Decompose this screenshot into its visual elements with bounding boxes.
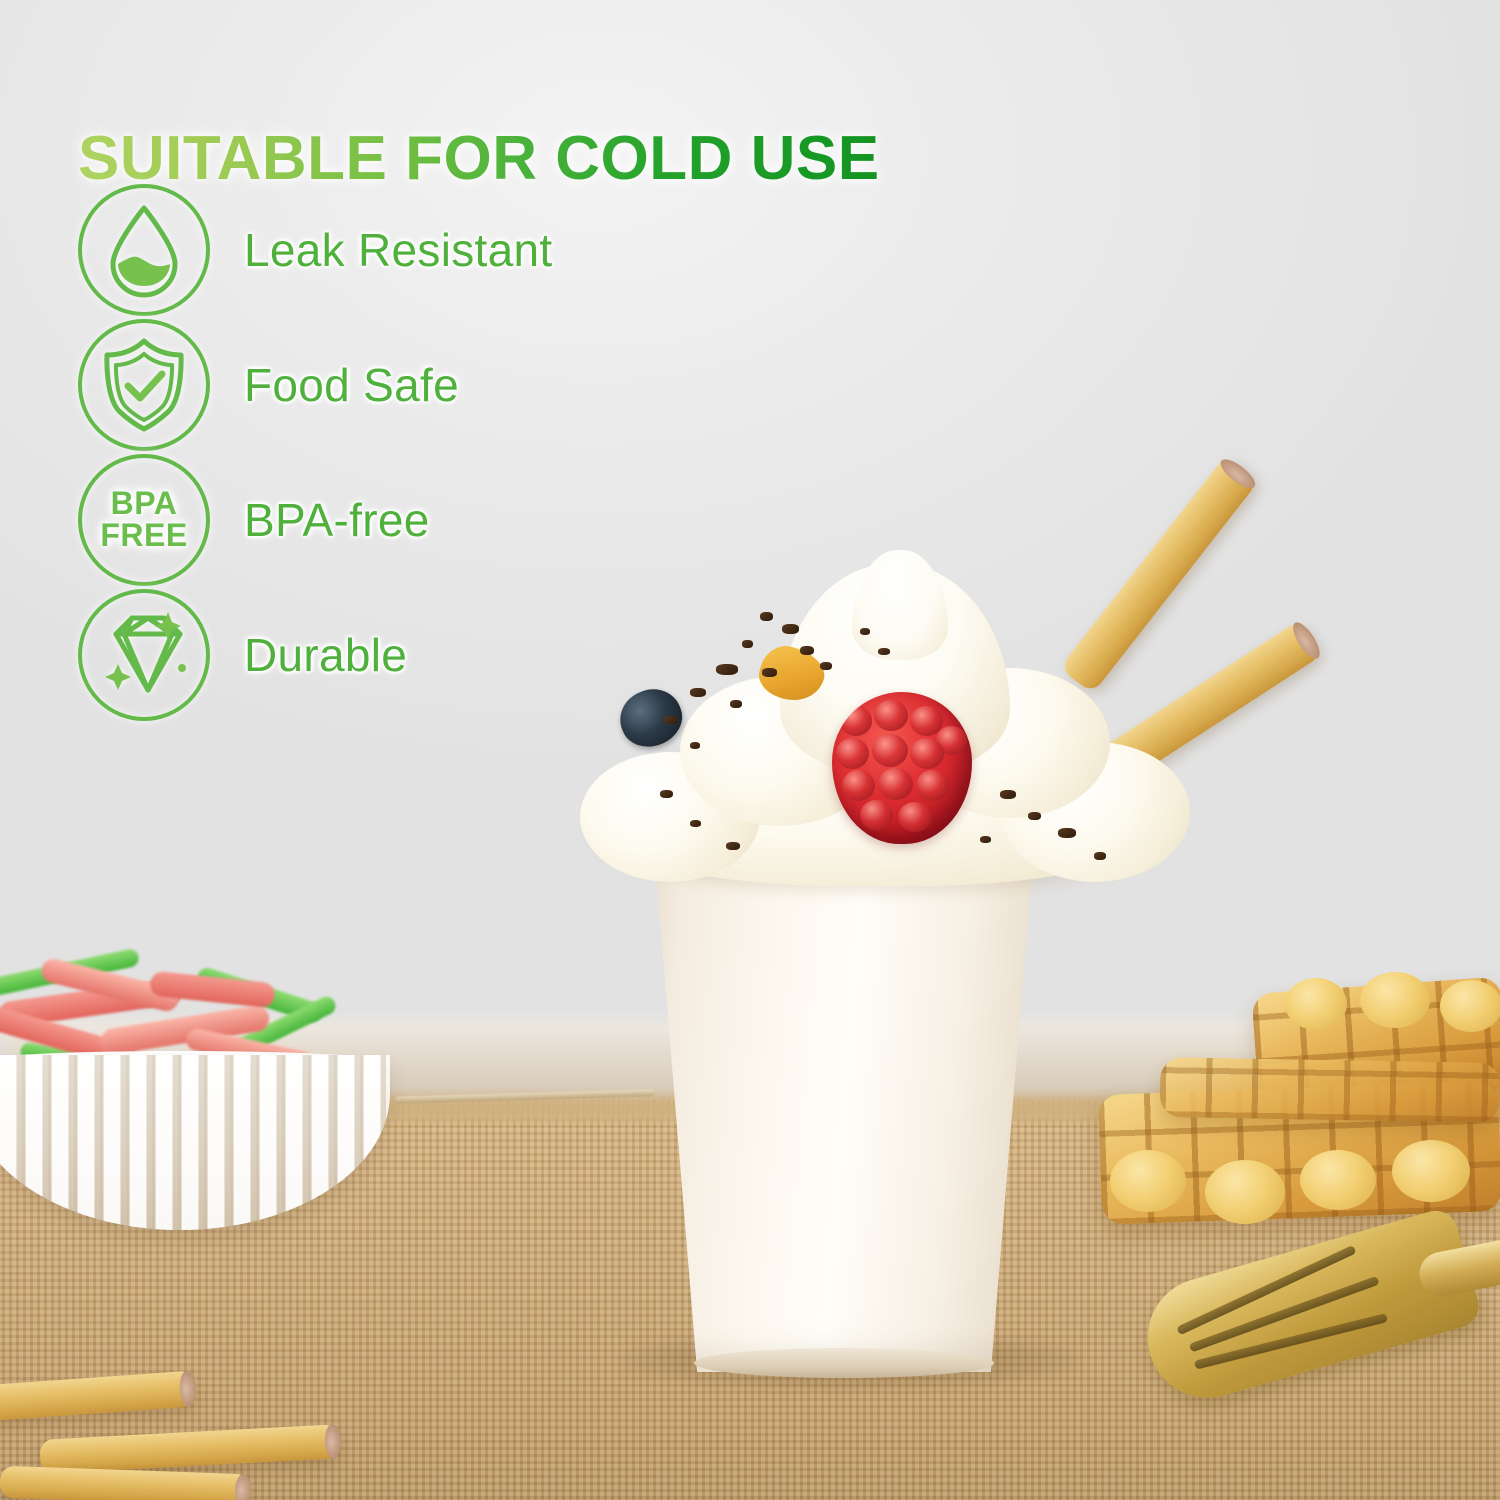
bpa-badge-line-2: FREE [100, 520, 187, 551]
feature-label: Leak Resistant [244, 223, 552, 277]
bpa-free-icon: BPA FREE [78, 454, 210, 586]
feature-item-durable: Durable [78, 587, 718, 722]
product-feature-image: SUITABLE FOR COLD USE Leak Resistant F [0, 0, 1500, 1500]
feature-label: Food Safe [244, 358, 459, 412]
cup-base [694, 1348, 994, 1378]
gummy-candy-bowl [0, 955, 440, 1230]
paper-cup [628, 872, 1060, 1372]
bpa-badge-line-1: BPA [111, 488, 178, 519]
page-title: SUITABLE FOR COLD USE [78, 128, 880, 190]
feature-item-leak-resistant: Leak Resistant [78, 182, 718, 317]
paper-cupcake-liner [0, 1055, 390, 1230]
shield-check-icon [78, 319, 210, 451]
feature-item-food-safe: Food Safe [78, 317, 718, 452]
raspberry-topping [832, 692, 972, 844]
feature-item-bpa-free: BPA FREE BPA-free [78, 452, 718, 587]
feature-label: Durable [244, 628, 407, 682]
feature-list: Leak Resistant Food Safe BPA FREE BPA-f [78, 182, 718, 722]
water-drop-icon [78, 184, 210, 316]
feature-label: BPA-free [244, 493, 430, 547]
diamond-icon [78, 589, 210, 721]
